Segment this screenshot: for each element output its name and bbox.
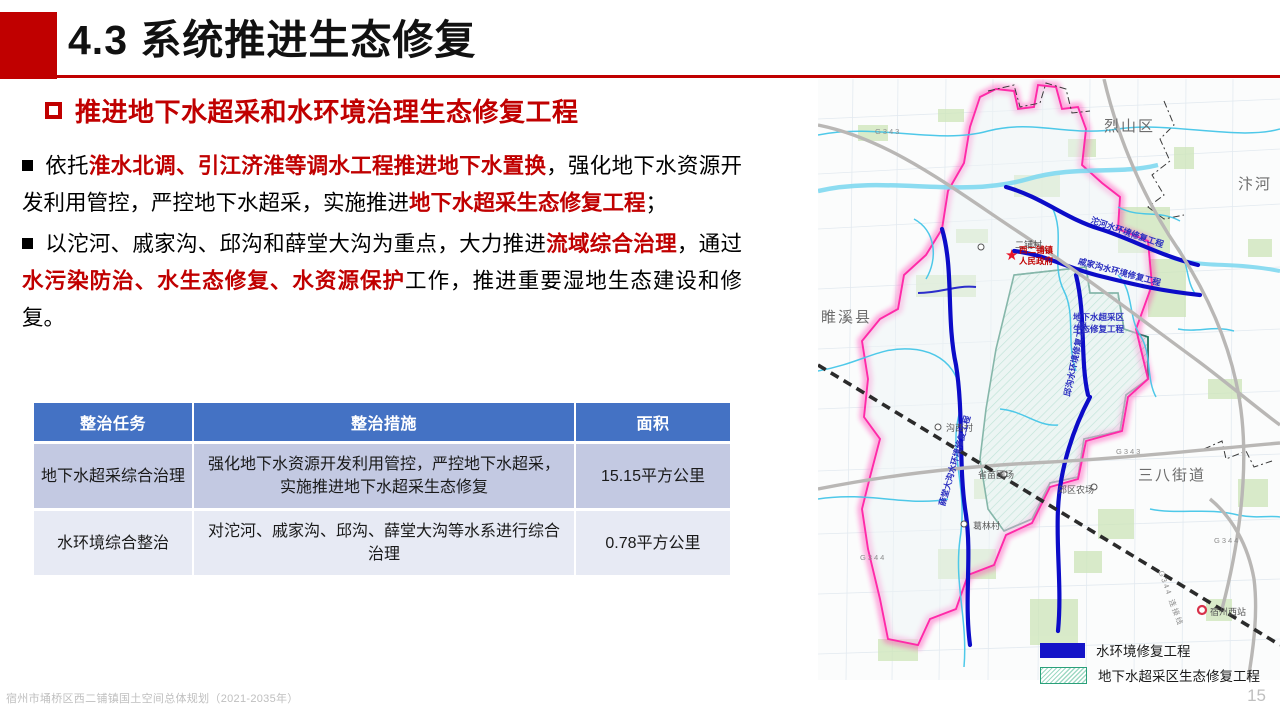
cell-task: 地下水超采综合治理: [34, 444, 192, 508]
p2-seg-0: 以沱河、戚家沟、邱沟和薛堂大沟为重点，大力推进: [45, 232, 546, 256]
p2-seg-1: 流域综合治理: [546, 232, 677, 256]
p1-seg-3: 地下水超采生态修复工程: [409, 191, 646, 215]
legend-item-water: 水环境修复工程: [1040, 640, 1260, 660]
paragraph-1: 依托淮水北调、引江济淮等调水工程推进地下水置换，强化地下水资源开发利用管控，严控…: [22, 148, 742, 222]
planning-map[interactable]: 烈山区 汴河 睢溪县 三八街道 二铺村 沟西村 葛林村 省苗圃场 郊区农场 宿州…: [818, 79, 1280, 680]
p1-seg-0: 依托: [45, 154, 89, 178]
legend-swatch-blue-icon: [1040, 643, 1085, 658]
legend-label-water: 水环境修复工程: [1096, 640, 1191, 660]
map-label-road-1: G343: [1116, 447, 1142, 456]
map-label-suzhouxizhan: 宿州西站: [1210, 605, 1246, 618]
map-label-lieshanqu: 烈山区: [1104, 115, 1155, 136]
table-header-task: 整治任务: [34, 403, 192, 441]
cell-area: 0.78平方公里: [576, 511, 730, 575]
table-row: 地下水超采综合治理 强化地下水资源开发利用管控，严控地下水超采，实施推进地下水超…: [34, 444, 730, 508]
p1-seg-4: ；: [646, 191, 668, 215]
paragraph-2: 以沱河、戚家沟、邱沟和薛堂大沟为重点，大力推进流域综合治理，通过水污染防治、水生…: [22, 226, 742, 337]
cell-task: 水环境综合整治: [34, 511, 192, 575]
map-label-government-line2: 人民政府: [1019, 256, 1053, 267]
hollow-square-icon: [45, 102, 62, 119]
cell-measure: 对沱河、戚家沟、邱沟、薛堂大沟等水系进行综合治理: [194, 511, 574, 575]
filled-square-icon: [22, 238, 33, 249]
map-label-suixixian: 睢溪县: [821, 306, 872, 327]
section-subtitle-label: 推进地下水超采和水环境治理生态修复工程: [75, 92, 579, 129]
legend-swatch-hatch-icon: [1040, 667, 1087, 684]
header-accent-block: [0, 12, 57, 79]
map-label-road-3: G344: [860, 553, 886, 562]
footer-note: 宿州市埇桥区西二铺镇国土空间总体规划（2021-2035年）: [6, 690, 299, 706]
remediation-table: 整治任务 整治措施 面积 地下水超采综合治理 强化地下水资源开发利用管控，严控地…: [32, 400, 732, 578]
map-label-road-2: G344: [1214, 536, 1240, 545]
table-header-row: 整治任务 整治措施 面积: [34, 403, 730, 441]
page-title: 4.3 系统推进生态修复: [68, 13, 476, 68]
legend-label-groundwater: 地下水超采区生态修复工程: [1098, 665, 1260, 685]
table-header-measure: 整治措施: [194, 403, 574, 441]
map-label-sanbajiedao: 三八街道: [1138, 464, 1206, 485]
map-label-groundwater-zone-line1: 地下水超采区: [1073, 311, 1124, 323]
map-legend: 水环境修复工程 地下水超采区生态修复工程: [1040, 640, 1260, 690]
p2-seg-2: ，通过: [677, 232, 742, 256]
map-label-jiaoqunongchang: 郊区农场: [1058, 483, 1094, 496]
slide: 4.3 系统推进生态修复 推进地下水超采和水环境治理生态修复工程 依托淮水北调、…: [0, 0, 1280, 720]
p2-seg-3: 水污染防治、水生态修复、水资源保护: [22, 269, 405, 293]
header-divider: [0, 75, 1280, 78]
filled-square-icon: [22, 160, 33, 171]
map-label-bianhe: 汴河: [1238, 173, 1272, 194]
cell-area: 15.15平方公里: [576, 444, 730, 508]
table-row: 水环境综合整治 对沱河、戚家沟、邱沟、薛堂大沟等水系进行综合治理 0.78平方公…: [34, 511, 730, 575]
body-text: 依托淮水北调、引江济淮等调水工程推进地下水置换，强化地下水资源开发利用管控，严控…: [22, 148, 742, 341]
map-label-groundwater-zone-line2: 生态修复工程: [1073, 323, 1124, 335]
section-subtitle: 推进地下水超采和水环境治理生态修复工程: [45, 92, 579, 129]
map-label-shengmiaopuchang: 省苗圃场: [978, 468, 1014, 481]
map-label-road-0: G343: [875, 127, 901, 136]
map-label-government-line1: 西二铺镇: [1019, 245, 1053, 256]
cell-measure: 强化地下水资源开发利用管控，严控地下水超采，实施推进地下水超采生态修复: [194, 444, 574, 508]
map-label-gelincun: 葛林村: [973, 519, 1000, 532]
capital-star-icon: ★: [1005, 248, 1018, 263]
legend-item-groundwater: 地下水超采区生态修复工程: [1040, 665, 1260, 685]
map-graphic: [818, 79, 1280, 680]
p1-seg-1: 淮水北调、引江济淮等调水工程推进地下水置换: [89, 154, 546, 178]
table-header-area: 面积: [576, 403, 730, 441]
